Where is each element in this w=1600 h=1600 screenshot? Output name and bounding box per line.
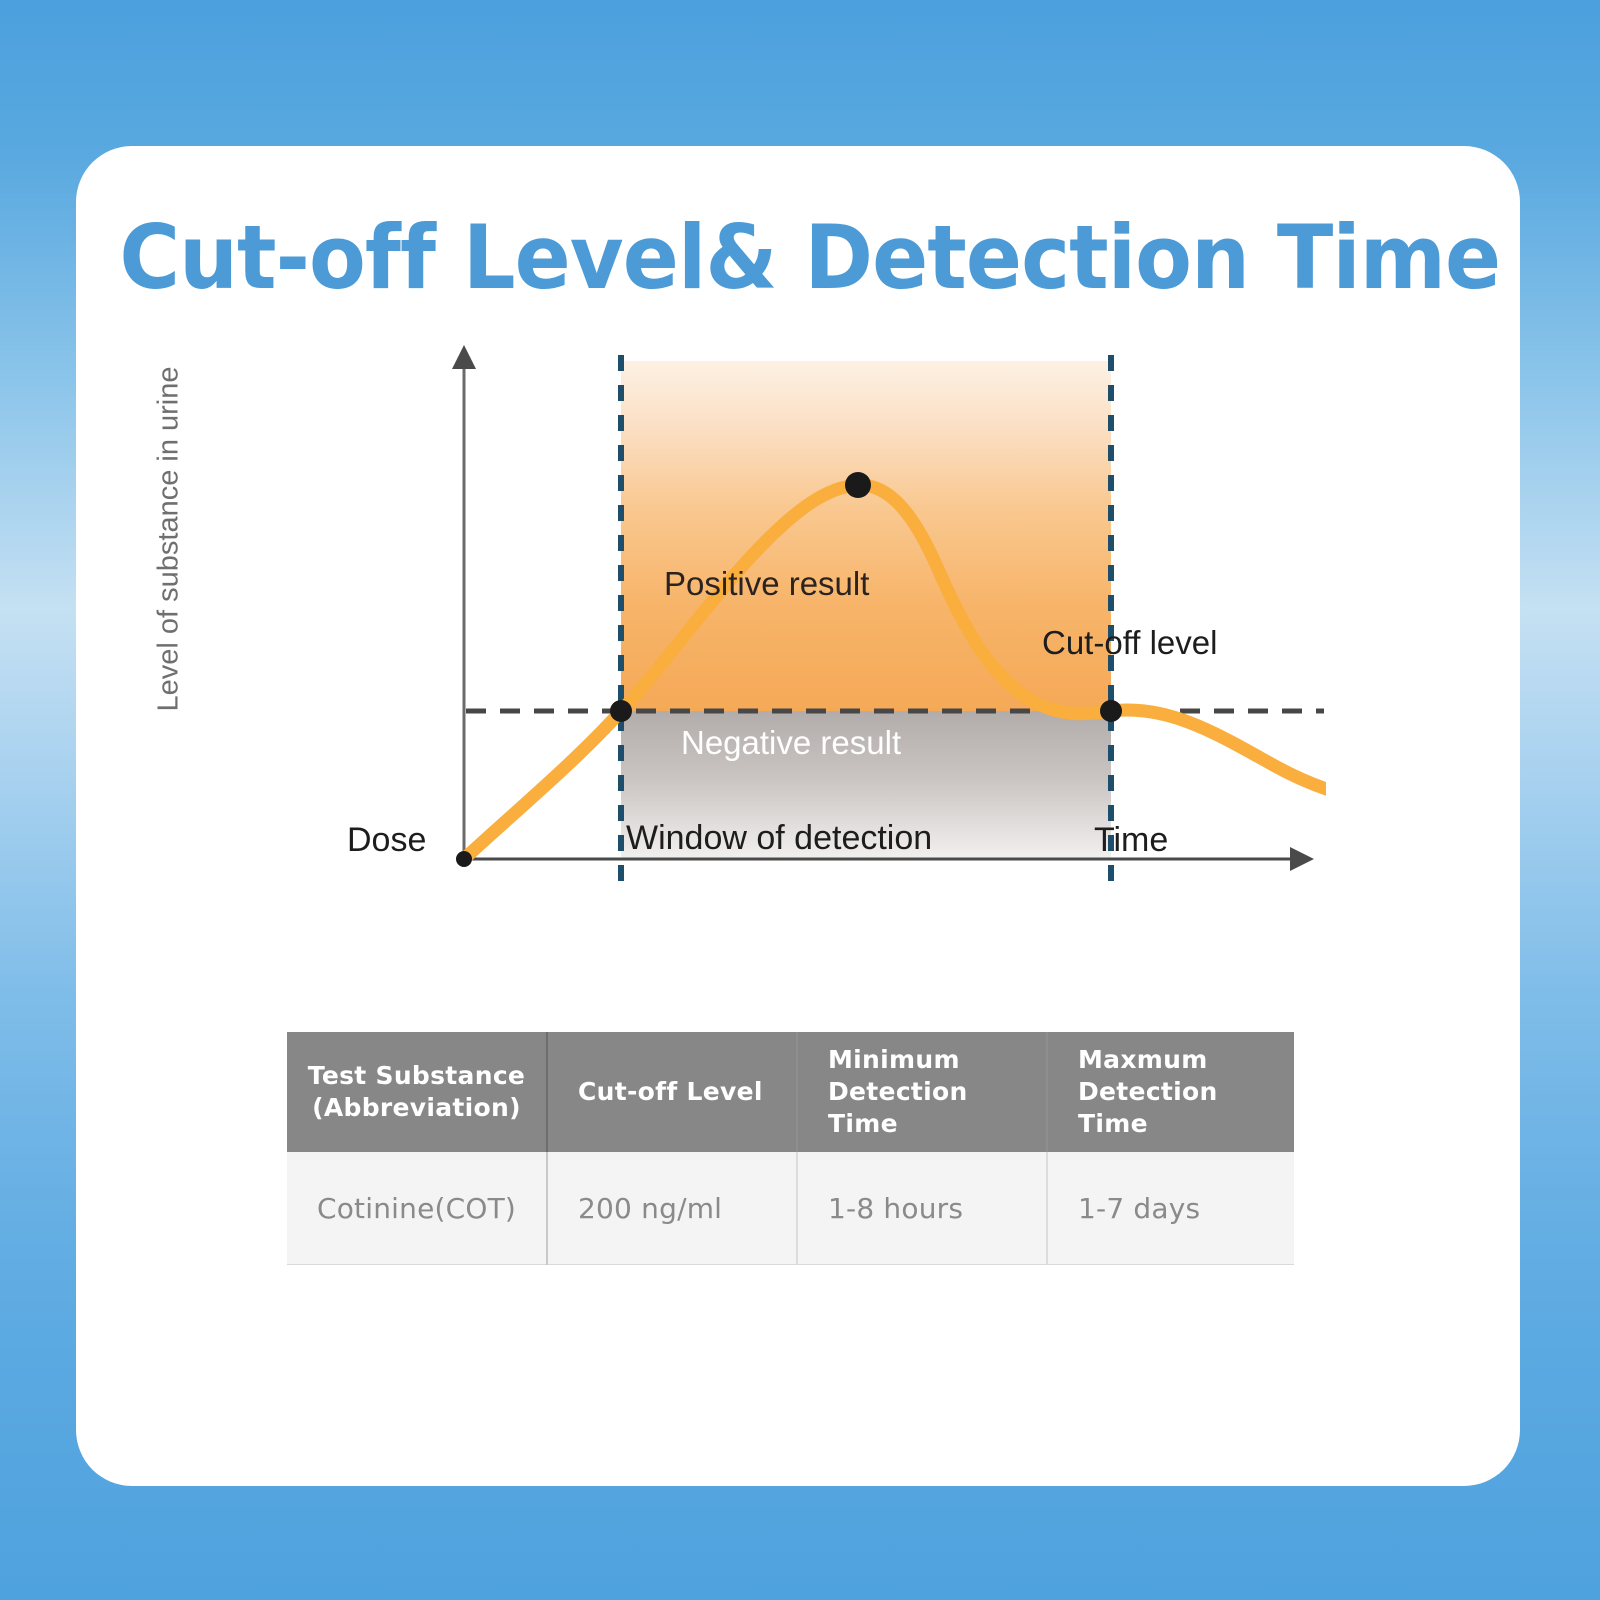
table-header: Test Substance (Abbreviation) Cut-off Le… — [287, 1032, 1294, 1152]
column-header-test-substance: Test Substance (Abbreviation) — [287, 1032, 547, 1152]
window-end-dot — [1100, 700, 1122, 722]
table-row: Cotinine(COT) 200 ng/ml 1-8 hours 1-7 da… — [287, 1152, 1294, 1265]
table-body: Cotinine(COT) 200 ng/ml 1-8 hours 1-7 da… — [287, 1152, 1294, 1265]
dose-origin-dot — [456, 851, 472, 867]
page-title: Cut-off Level& Detection Time — [119, 206, 1476, 309]
column-header-line1: Test Substance — [295, 1060, 538, 1092]
chart-svg — [326, 341, 1326, 921]
detection-table: Test Substance (Abbreviation) Cut-off Le… — [287, 1032, 1294, 1265]
peak-dot — [845, 472, 871, 498]
content-card: Cut-off Level& Detection Time — [76, 146, 1520, 1486]
column-header-line1: Minimum — [828, 1044, 1038, 1076]
positive-result-label: Positive result — [664, 565, 869, 603]
column-header-maximum-detection-time: Maxmum Detection Time — [1047, 1032, 1294, 1152]
cell-minimum-detection-time: 1-8 hours — [797, 1152, 1047, 1265]
column-header-minimum-detection-time: Minimum Detection Time — [797, 1032, 1047, 1152]
column-header-line1: Maxmum — [1078, 1044, 1286, 1076]
y-axis-label: Level of substance in urine — [153, 372, 186, 712]
column-header-line2: Detection Time — [1078, 1076, 1286, 1140]
window-start-dot — [610, 700, 632, 722]
cell-cutoff-level: 200 ng/ml — [547, 1152, 797, 1265]
positive-region — [621, 361, 1111, 711]
dose-axis-label: Dose — [347, 821, 426, 860]
time-axis-label: Time — [1094, 821, 1168, 860]
cell-maximum-detection-time: 1-7 days — [1047, 1152, 1294, 1265]
cut-off-level-label: Cut-off level — [1042, 624, 1217, 662]
cell-test-substance: Cotinine(COT) — [287, 1152, 547, 1265]
concentration-curve — [464, 485, 1326, 859]
column-header-line1: Cut-off Level — [578, 1076, 788, 1108]
column-header-line2: (Abbreviation) — [295, 1092, 538, 1124]
table-header-row: Test Substance (Abbreviation) Cut-off Le… — [287, 1032, 1294, 1152]
column-header-line2: Detection Time — [828, 1076, 1038, 1140]
page-background: Cut-off Level& Detection Time — [0, 0, 1600, 1600]
window-of-detection-label: Window of detection — [626, 819, 932, 858]
negative-region — [621, 711, 1111, 859]
detection-chart: Positive result Negative result Cut-off … — [76, 146, 1520, 1486]
negative-result-label: Negative result — [681, 724, 901, 762]
column-header-cutoff-level: Cut-off Level — [547, 1032, 797, 1152]
